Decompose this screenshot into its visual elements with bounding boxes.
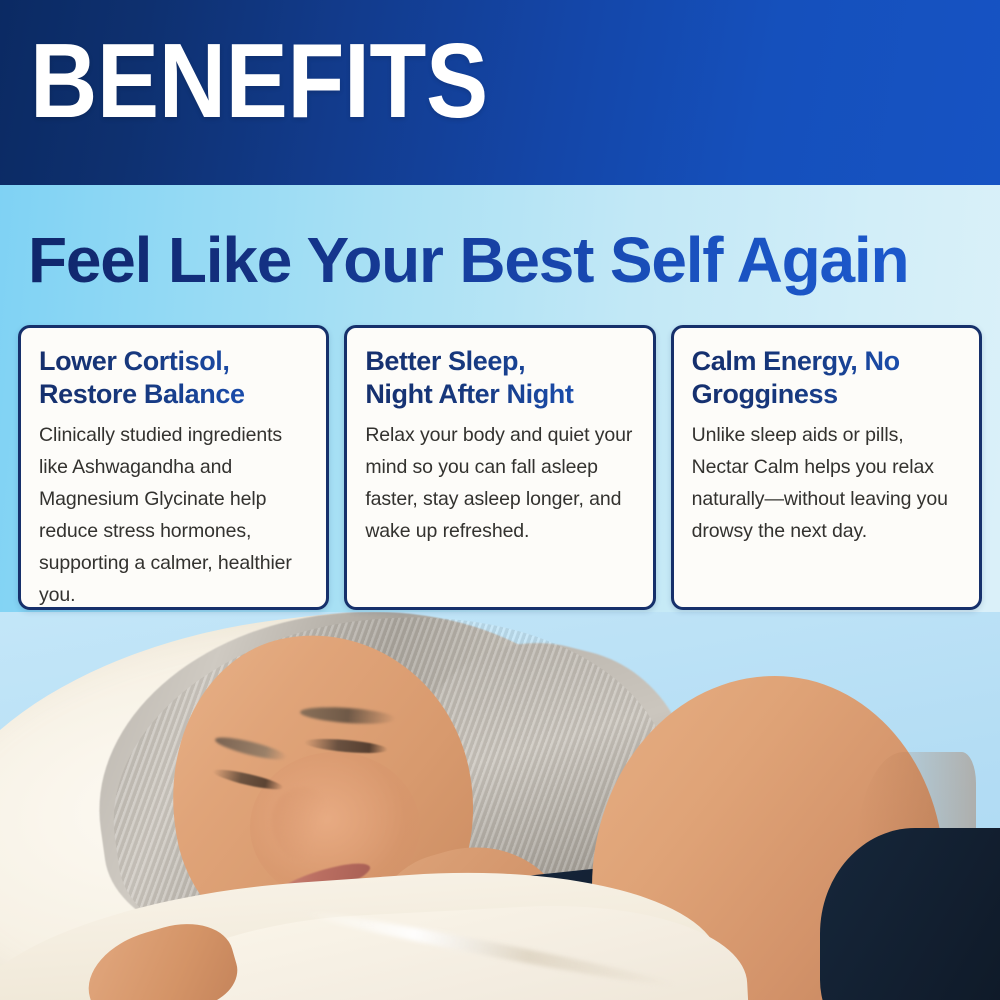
page-title: BENEFITS xyxy=(30,26,488,136)
benefit-card-title: Calm Energy, No Grogginess xyxy=(692,345,961,411)
benefit-card-title: Lower Cortisol, Restore Balance xyxy=(39,345,308,411)
benefit-card-body: Clinically studied ingredients like Ashw… xyxy=(39,419,308,611)
benefits-poster: BENEFITS Feel Like Your Best Self Again xyxy=(0,0,1000,1000)
benefit-card-body: Unlike sleep aids or pills, Nectar Calm … xyxy=(692,419,961,547)
hero-photo-sleeping-woman xyxy=(0,612,1000,1000)
benefit-card-title: Better Sleep, Night After Night xyxy=(365,345,634,411)
benefit-cards: Lower Cortisol, Restore Balance Clinical… xyxy=(18,325,982,610)
benefit-card-lower-cortisol[interactable]: Lower Cortisol, Restore Balance Clinical… xyxy=(18,325,329,610)
headline: Feel Like Your Best Self Again xyxy=(28,224,908,296)
benefit-card-calm-energy[interactable]: Calm Energy, No Grogginess Unlike sleep … xyxy=(671,325,982,610)
benefit-card-better-sleep[interactable]: Better Sleep, Night After Night Relax yo… xyxy=(344,325,655,610)
header-band: BENEFITS xyxy=(0,0,1000,185)
benefit-card-body: Relax your body and quiet your mind so y… xyxy=(365,419,634,547)
